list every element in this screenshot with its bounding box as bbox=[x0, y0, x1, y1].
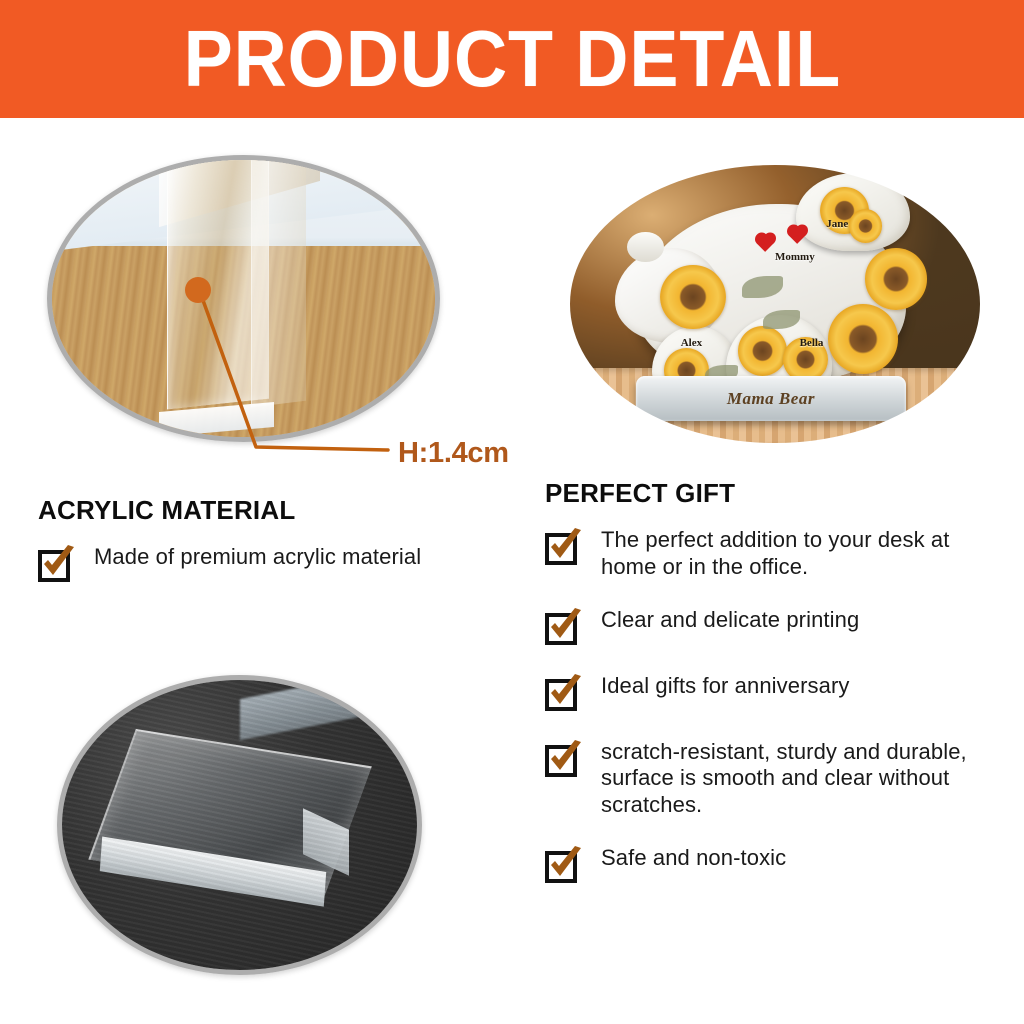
section-title-acrylic-material: ACRYLIC MATERIAL bbox=[38, 495, 528, 526]
header-banner: PRODUCT DETAIL bbox=[0, 0, 1024, 118]
sunflower bbox=[828, 304, 898, 374]
sunflower bbox=[849, 209, 882, 242]
feature-text: Safe and non-toxic bbox=[601, 845, 786, 872]
height-callout-label: H:1.4cm bbox=[398, 437, 509, 470]
checkmark-icon bbox=[544, 672, 586, 714]
list-item: Made of premium acrylic material bbox=[38, 544, 528, 584]
list-item: scratch-resistant, sturdy and durable, s… bbox=[545, 739, 1000, 819]
sunflower bbox=[865, 248, 927, 309]
feature-text: Ideal gifts for anniversary bbox=[601, 673, 849, 700]
checkbox-checked-icon bbox=[545, 741, 583, 779]
acrylic-block-side-face bbox=[303, 808, 349, 876]
list-item: The perfect addition to your desk at hom… bbox=[545, 527, 1000, 581]
photo-acrylic-block-edge bbox=[47, 155, 440, 442]
feature-text: The perfect addition to your desk at hom… bbox=[601, 527, 1000, 581]
section-title-perfect-gift: PERFECT GIFT bbox=[545, 478, 1000, 509]
feature-list-perfect-gift: The perfect addition to your desk at hom… bbox=[545, 527, 1000, 885]
feature-text: scratch-resistant, sturdy and durable, s… bbox=[601, 739, 1000, 819]
checkmark-icon bbox=[544, 526, 586, 568]
engraved-name-jane: Jane bbox=[826, 218, 848, 230]
section-acrylic-material: ACRYLIC MATERIAL Made of premium acrylic… bbox=[38, 495, 528, 610]
engraved-name-bella: Bella bbox=[800, 337, 824, 349]
figurine-base: Mama Bear bbox=[636, 376, 907, 420]
checkmark-icon bbox=[544, 606, 586, 648]
checkbox-checked-icon bbox=[38, 546, 76, 584]
page-title: PRODUCT DETAIL bbox=[183, 19, 841, 99]
slate-background bbox=[62, 680, 417, 970]
feature-text: Made of premium acrylic material bbox=[94, 544, 421, 571]
checkbox-checked-icon bbox=[545, 529, 583, 567]
engraved-name-mommy: Mommy bbox=[775, 251, 815, 263]
list-item: Safe and non-toxic bbox=[545, 845, 1000, 885]
acrylic-block-front-edge bbox=[100, 836, 326, 906]
photo-acrylic-block-on-slate bbox=[57, 675, 422, 975]
checkbox-checked-icon bbox=[545, 609, 583, 647]
section-perfect-gift: PERFECT GIFT The perfect addition to you… bbox=[545, 478, 1000, 911]
wood-table-background bbox=[52, 160, 435, 437]
base-engraving-text: Mama Bear bbox=[636, 389, 907, 409]
checkbox-checked-icon bbox=[545, 675, 583, 713]
list-item: Ideal gifts for anniversary bbox=[545, 673, 1000, 713]
photo-bear-figurine: Jane Mommy Alex Bella Mama Bear bbox=[570, 165, 980, 443]
checkmark-icon bbox=[544, 738, 586, 780]
acrylic-block-top-face bbox=[88, 729, 372, 897]
feature-list-acrylic-material: Made of premium acrylic material bbox=[38, 544, 528, 584]
acrylic-slab-back bbox=[251, 155, 306, 407]
list-item: Clear and delicate printing bbox=[545, 607, 1000, 647]
checkbox-checked-icon bbox=[545, 847, 583, 885]
bokeh-background: Jane Mommy Alex Bella Mama Bear bbox=[570, 165, 980, 443]
sunflower bbox=[660, 265, 726, 329]
background-highlight bbox=[240, 675, 375, 740]
product-detail-page: PRODUCT DETAIL bbox=[0, 0, 1024, 1024]
checkmark-icon bbox=[544, 844, 586, 886]
checkmark-icon bbox=[37, 543, 79, 585]
engraved-name-alex: Alex bbox=[681, 337, 702, 349]
feature-text: Clear and delicate printing bbox=[601, 607, 859, 634]
